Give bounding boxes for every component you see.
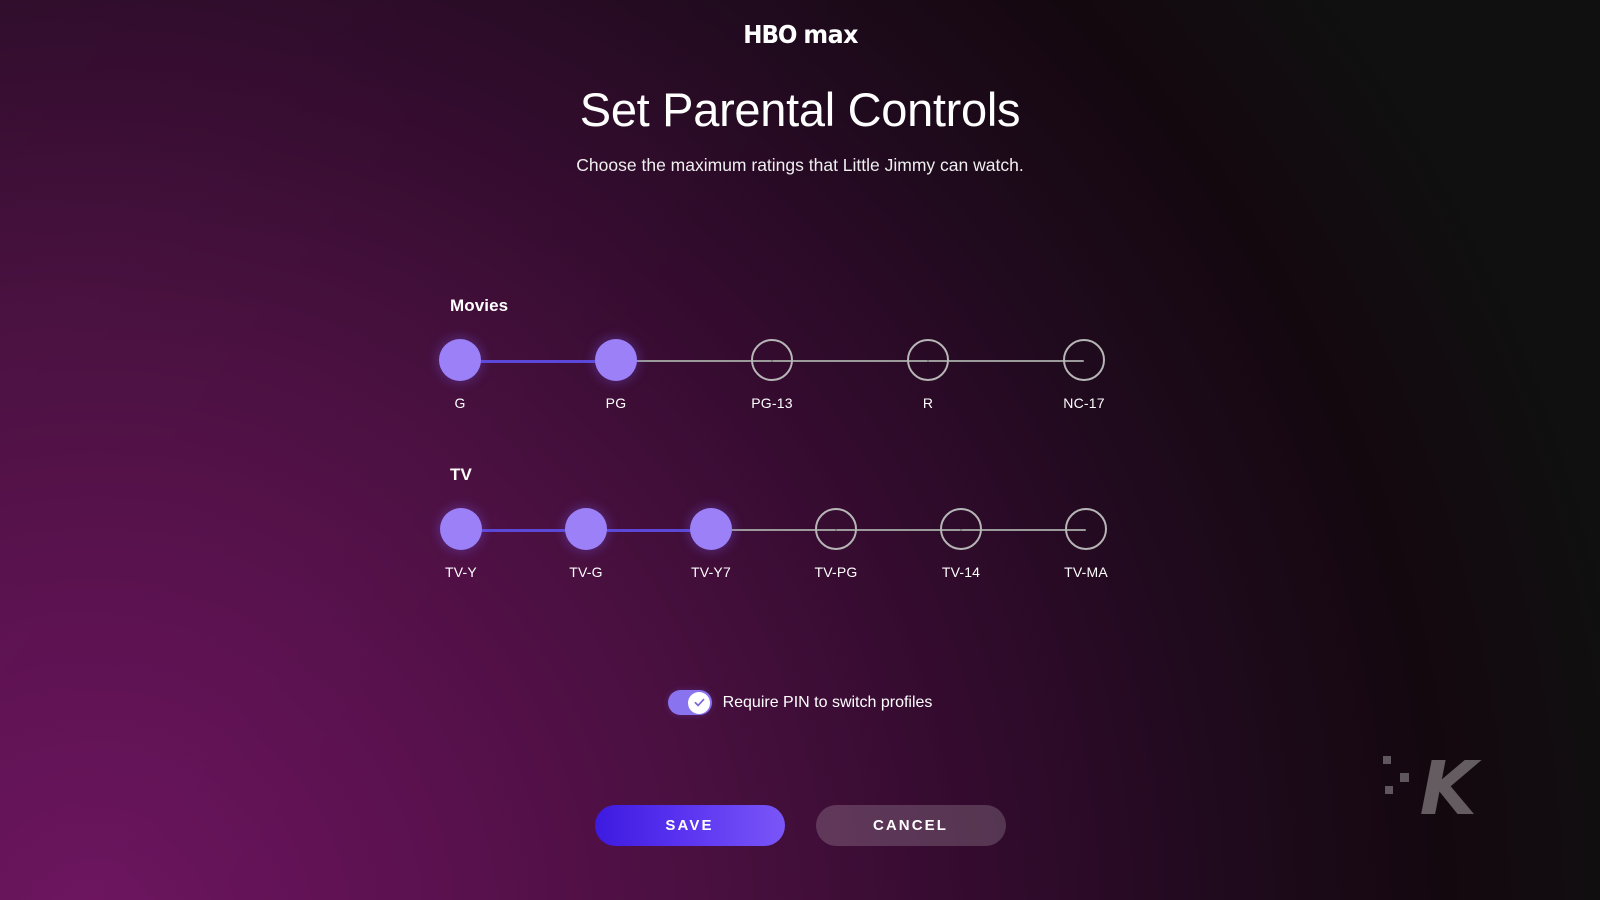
watermark-logo: K — [1378, 740, 1483, 820]
slider-label-tv: TV — [450, 465, 1150, 485]
logo-hbo-text: HBO — [743, 20, 796, 49]
slider-tick-label: R — [923, 395, 933, 411]
slider-tick-label: TV-Y7 — [691, 564, 731, 580]
slider-segment — [616, 360, 772, 362]
page-subtitle: Choose the maximum ratings that Little J… — [0, 155, 1600, 176]
watermark-square — [1383, 756, 1391, 764]
slider-segment — [928, 360, 1084, 362]
watermark-square — [1400, 773, 1409, 782]
watermark-square — [1385, 786, 1393, 794]
slider-tick-label: PG — [606, 395, 627, 411]
action-buttons: SAVE CANCEL — [0, 805, 1600, 846]
parental-controls-screen: HBO max Set Parental Controls Choose the… — [0, 0, 1600, 900]
slider-dot-tv-14[interactable] — [940, 508, 982, 550]
slider-tick-label: TV-MA — [1064, 564, 1108, 580]
require-pin-row: Require PIN to switch profiles — [0, 690, 1600, 715]
slider-dot-nc-17[interactable] — [1063, 339, 1105, 381]
rating-slider-movies: Movies GPGPG-13RNC-17 — [450, 296, 1150, 419]
watermark-letter: K — [1420, 752, 1477, 826]
cancel-button[interactable]: CANCEL — [816, 805, 1006, 846]
slider-dot-pg[interactable] — [595, 339, 637, 381]
slider-tick-label: PG-13 — [751, 395, 792, 411]
slider-label-movies: Movies — [450, 296, 1150, 316]
slider-tick-label: G — [454, 395, 465, 411]
require-pin-label: Require PIN to switch profiles — [723, 694, 933, 712]
slider-tick-label: TV-PG — [814, 564, 857, 580]
logo-max-text: max — [803, 20, 857, 49]
save-button[interactable]: SAVE — [595, 805, 785, 846]
slider-dot-g[interactable] — [439, 339, 481, 381]
page-title: Set Parental Controls — [0, 82, 1600, 137]
hbo-max-logo: HBO max — [0, 20, 1600, 49]
slider-dot-tv-g[interactable] — [565, 508, 607, 550]
slider-segment — [772, 360, 928, 362]
slider-ticks-tv: TV-YTV-GTV-Y7TV-PGTV-14TV-MA — [450, 564, 1150, 588]
slider-dot-tv-y7[interactable] — [690, 508, 732, 550]
slider-dot-tv-ma[interactable] — [1065, 508, 1107, 550]
rating-slider-tv: TV TV-YTV-GTV-Y7TV-PGTV-14TV-MA — [450, 465, 1150, 588]
slider-track-movies[interactable] — [450, 339, 1150, 383]
slider-track-tv[interactable] — [450, 508, 1150, 552]
slider-segment — [460, 360, 616, 363]
slider-tick-label: TV-G — [569, 564, 602, 580]
slider-dot-r[interactable] — [907, 339, 949, 381]
slider-dot-tv-pg[interactable] — [815, 508, 857, 550]
check-icon — [693, 696, 706, 709]
slider-tick-label: TV-Y — [445, 564, 477, 580]
slider-dot-pg-13[interactable] — [751, 339, 793, 381]
require-pin-toggle[interactable] — [668, 690, 712, 715]
slider-dot-tv-y[interactable] — [440, 508, 482, 550]
slider-ticks-movies: GPGPG-13RNC-17 — [450, 395, 1150, 419]
slider-tick-label: NC-17 — [1063, 395, 1104, 411]
toggle-knob — [688, 692, 710, 714]
slider-tick-label: TV-14 — [942, 564, 980, 580]
